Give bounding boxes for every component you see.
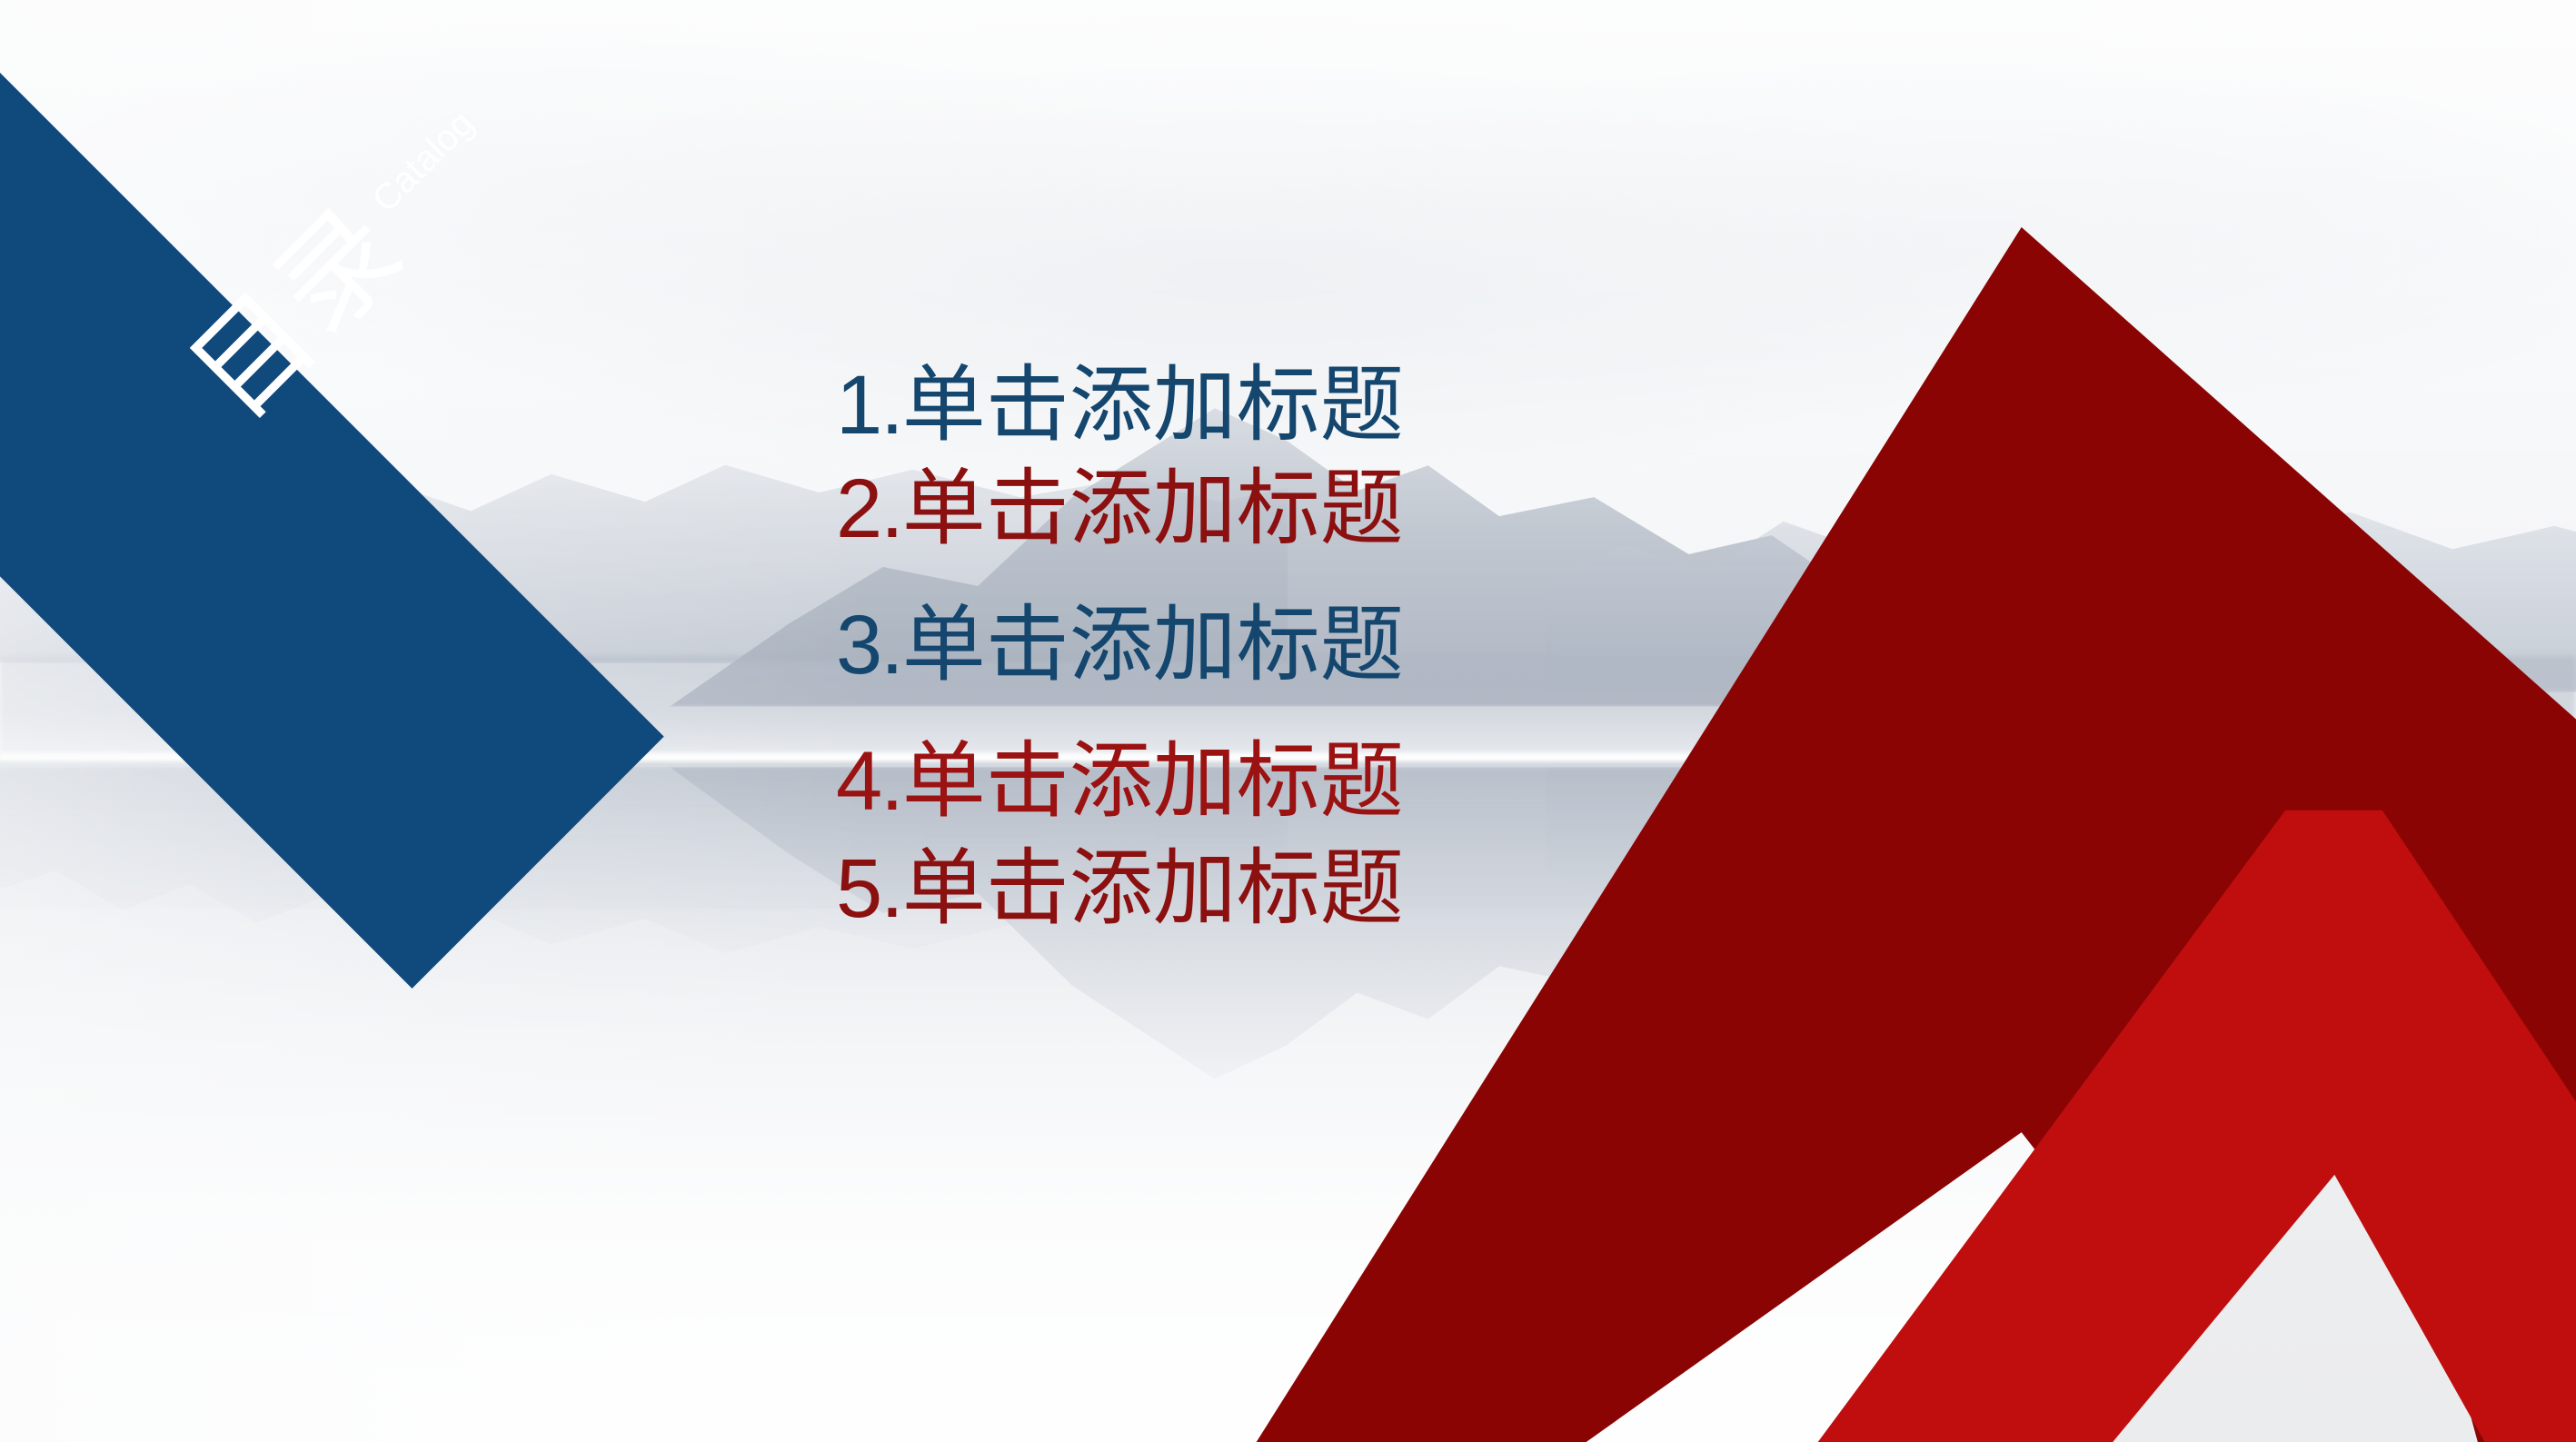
diagonal-blue-band [0, 0, 664, 989]
table-of-contents: 1.单击添加标题 2.单击添加标题 3.单击添加标题 4.单击添加标题 5.单击… [836, 363, 1581, 930]
toc-item-3[interactable]: 3.单击添加标题 [836, 603, 1581, 687]
toc-item-3-label: 单击添加标题 [902, 599, 1404, 691]
toc-item-1-number: 1. [836, 359, 902, 452]
toc-item-2[interactable]: 2.单击添加标题 [836, 467, 1581, 551]
toc-item-4-number: 4. [836, 735, 902, 828]
spacer-3 [836, 687, 1581, 740]
toc-item-5-number: 5. [836, 842, 902, 935]
toc-item-1-label: 单击添加标题 [902, 359, 1404, 452]
toc-item-2-label: 单击添加标题 [902, 462, 1404, 555]
toc-item-5[interactable]: 5.单击添加标题 [836, 847, 1581, 930]
spacer-2 [836, 551, 1581, 603]
toc-item-1[interactable]: 1.单击添加标题 [836, 363, 1581, 447]
toc-item-2-number: 2. [836, 462, 902, 555]
presentation-slide: 目录 Catalog 1.单击添加标题 2.单击添加标题 3.单击添加标题 4.… [0, 0, 2576, 1442]
toc-item-4-label: 单击添加标题 [902, 735, 1404, 828]
toc-item-3-number: 3. [836, 599, 902, 691]
toc-item-5-label: 单击添加标题 [902, 842, 1404, 935]
toc-item-4[interactable]: 4.单击添加标题 [836, 740, 1581, 823]
